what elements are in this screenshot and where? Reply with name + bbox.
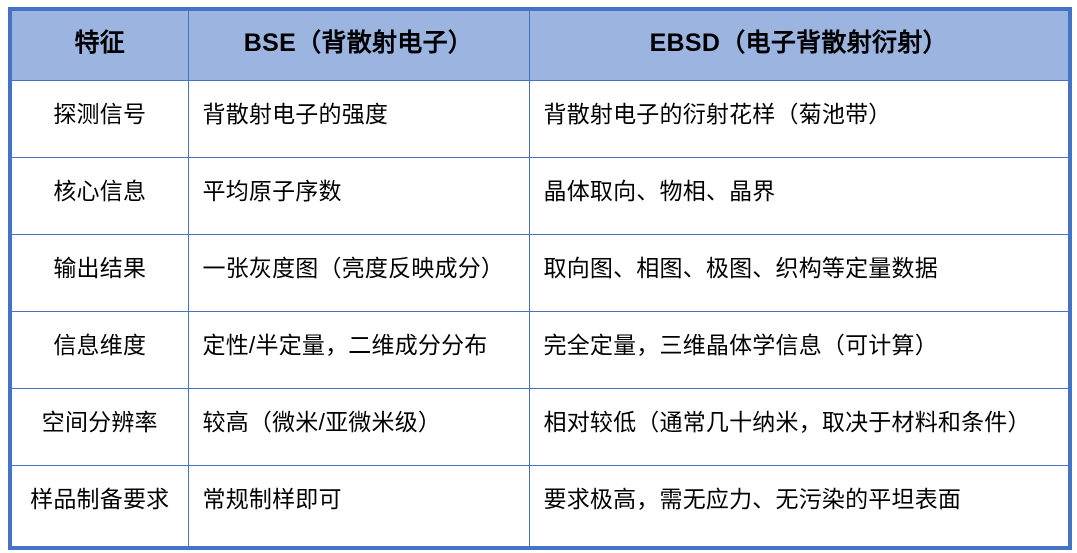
cell-ebsd: 相对较低（通常几十纳米，取决于材料和条件） <box>529 388 1070 465</box>
table-row: 核心信息 平均原子序数 晶体取向、物相、晶界 <box>10 157 1070 234</box>
cell-bse: 一张灰度图（亮度反映成分） <box>188 234 529 311</box>
column-header-bse: BSE（背散射电子） <box>188 9 529 80</box>
cell-bse-text: 定性/半定量，二维成分分布 <box>189 312 529 359</box>
cell-feature-text: 信息维度 <box>12 312 188 359</box>
table-row: 探测信号 背散射电子的强度 背散射电子的衍射花样（菊池带） <box>10 80 1070 157</box>
table-row: 信息维度 定性/半定量，二维成分分布 完全定量，三维晶体学信息（可计算） <box>10 311 1070 388</box>
cell-bse: 常规制样即可 <box>188 465 529 548</box>
cell-bse: 平均原子序数 <box>188 157 529 234</box>
cell-feature: 样品制备要求 <box>10 465 188 548</box>
cell-bse-text: 一张灰度图（亮度反映成分） <box>189 235 529 282</box>
cell-feature: 空间分辨率 <box>10 388 188 465</box>
cell-ebsd-text: 晶体取向、物相、晶界 <box>530 158 1069 205</box>
column-header-feature-label: 特征 <box>12 11 188 58</box>
cell-feature: 信息维度 <box>10 311 188 388</box>
table-row: 输出结果 一张灰度图（亮度反映成分） 取向图、相图、极图、织构等定量数据 <box>10 234 1070 311</box>
cell-ebsd: 取向图、相图、极图、织构等定量数据 <box>529 234 1070 311</box>
cell-feature: 输出结果 <box>10 234 188 311</box>
cell-ebsd-text: 完全定量，三维晶体学信息（可计算） <box>530 312 1069 359</box>
cell-bse-text: 常规制样即可 <box>189 466 529 513</box>
cell-ebsd-text: 取向图、相图、极图、织构等定量数据 <box>530 235 1069 282</box>
column-header-ebsd-label: EBSD（电子背散射衍射） <box>530 11 1069 58</box>
cell-bse: 较高（微米/亚微米级） <box>188 388 529 465</box>
cell-bse: 定性/半定量，二维成分分布 <box>188 311 529 388</box>
comparison-table-container: 特征 BSE（背散射电子） EBSD（电子背散射衍射） 探测信号 背散射电子的强… <box>8 7 1068 546</box>
cell-feature-text: 样品制备要求 <box>12 466 188 513</box>
cell-feature: 核心信息 <box>10 157 188 234</box>
bse-ebsd-comparison-table: 特征 BSE（背散射电子） EBSD（电子背散射衍射） 探测信号 背散射电子的强… <box>8 7 1072 550</box>
column-header-bse-label: BSE（背散射电子） <box>189 11 529 58</box>
cell-feature-text: 输出结果 <box>12 235 188 282</box>
table-body: 探测信号 背散射电子的强度 背散射电子的衍射花样（菊池带） 核心信息 平均原子序… <box>10 80 1070 548</box>
cell-bse-text: 背散射电子的强度 <box>189 81 529 128</box>
cell-bse-text: 较高（微米/亚微米级） <box>189 389 529 436</box>
cell-ebsd: 要求极高，需无应力、无污染的平坦表面 <box>529 465 1070 548</box>
table-header-row: 特征 BSE（背散射电子） EBSD（电子背散射衍射） <box>10 9 1070 80</box>
cell-feature-text: 核心信息 <box>12 158 188 205</box>
table-row: 样品制备要求 常规制样即可 要求极高，需无应力、无污染的平坦表面 <box>10 465 1070 548</box>
cell-ebsd: 背散射电子的衍射花样（菊池带） <box>529 80 1070 157</box>
table-row: 空间分辨率 较高（微米/亚微米级） 相对较低（通常几十纳米，取决于材料和条件） <box>10 388 1070 465</box>
cell-ebsd: 晶体取向、物相、晶界 <box>529 157 1070 234</box>
cell-bse-text: 平均原子序数 <box>189 158 529 205</box>
cell-ebsd-text: 背散射电子的衍射花样（菊池带） <box>530 81 1069 128</box>
cell-ebsd-text: 相对较低（通常几十纳米，取决于材料和条件） <box>530 389 1069 436</box>
column-header-ebsd: EBSD（电子背散射衍射） <box>529 9 1070 80</box>
column-header-feature: 特征 <box>10 9 188 80</box>
cell-ebsd: 完全定量，三维晶体学信息（可计算） <box>529 311 1070 388</box>
cell-feature: 探测信号 <box>10 80 188 157</box>
cell-bse: 背散射电子的强度 <box>188 80 529 157</box>
table-header: 特征 BSE（背散射电子） EBSD（电子背散射衍射） <box>10 9 1070 80</box>
cell-feature-text: 探测信号 <box>12 81 188 128</box>
cell-ebsd-text: 要求极高，需无应力、无污染的平坦表面 <box>530 466 1069 513</box>
cell-feature-text: 空间分辨率 <box>12 389 188 436</box>
